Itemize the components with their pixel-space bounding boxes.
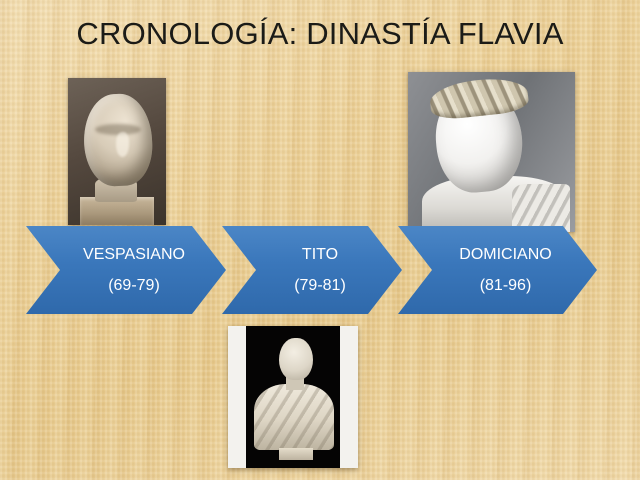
titus-base: [279, 448, 313, 460]
domitian-photo-content: [408, 72, 575, 232]
timeline-step-reign: (69-79): [92, 275, 160, 297]
titus-head: [279, 338, 313, 380]
vespasian-photo-content: [68, 78, 166, 225]
image-bust-of-domitian: [408, 72, 575, 232]
slide-canvas: CRONOLOGÍA: DINASTÍA FLAVIA VESPASIANO: [0, 0, 640, 480]
image-bust-of-titus: [228, 326, 358, 468]
timeline-step-vespasiano[interactable]: VESPASIANO (69-79): [26, 226, 226, 314]
titus-toga: [254, 384, 334, 450]
timeline-step-reign: (79-81): [278, 275, 346, 297]
image-bust-of-vespasian: [68, 78, 166, 225]
timeline-step-name: DOMICIANO: [443, 244, 551, 266]
titus-photo-content: [246, 326, 340, 468]
timeline-step-name: VESPASIANO: [67, 244, 185, 266]
timeline-step-name: TITO: [286, 244, 338, 266]
timeline-step-domiciano[interactable]: DOMICIANO (81-96): [398, 226, 597, 314]
vespasian-nose: [116, 132, 129, 157]
timeline-step-tito[interactable]: TITO (79-81): [222, 226, 402, 314]
timeline-step-reign: (81-96): [464, 275, 532, 297]
domitian-drape: [512, 184, 570, 232]
page-title: CRONOLOGÍA: DINASTÍA FLAVIA: [0, 14, 640, 54]
